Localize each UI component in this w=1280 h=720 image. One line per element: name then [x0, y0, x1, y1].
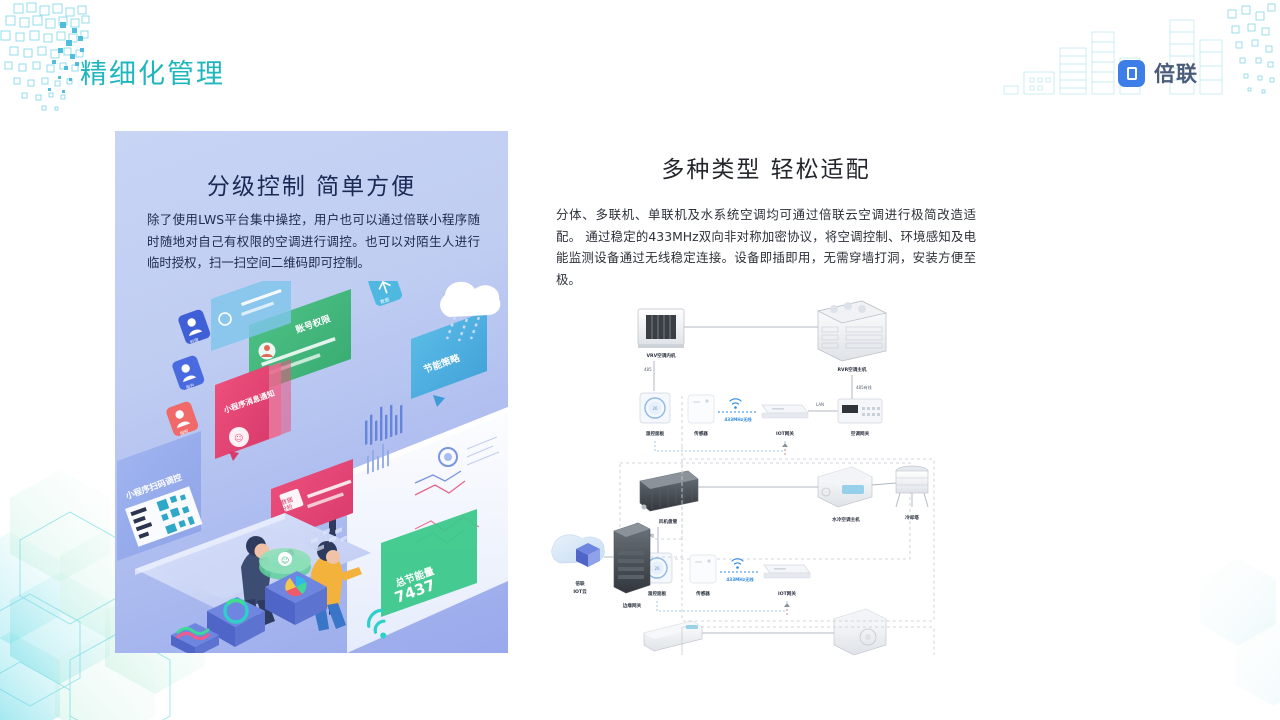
label-vrv-link-indoor: 485: [644, 367, 652, 372]
device-iot-cloud: [552, 535, 605, 567]
device-ac-gateway: [838, 399, 882, 423]
svg-text:26: 26: [654, 566, 660, 571]
label-vrv-outdoor: RVR空调主机: [837, 366, 866, 373]
card-miniprogram-notification: 小程序消息通知 ☺: [215, 359, 291, 461]
svg-text:☺: ☺: [281, 556, 289, 565]
brand-logo: 倍联: [1118, 58, 1198, 88]
square-logo-icon: [1118, 60, 1145, 87]
device-edge-gateway: [614, 523, 650, 593]
diagram-group-split-system: 分体空调内机 分体空调外机 铜 红外控制: [642, 609, 886, 655]
svg-text:☺: ☺: [234, 433, 243, 444]
hexagon-pattern-decoration-bottomright: [1020, 470, 1280, 720]
page-header: 精细化管理 倍联: [0, 0, 1280, 118]
diagram-group-vrv: VRV空调内机 RVR空调主机 485: [638, 301, 886, 457]
label-vrv-lan: LAN: [816, 402, 824, 407]
label-fan-coil: 风机盘管: [659, 518, 678, 525]
label-cloud-line2: IOT云: [573, 588, 587, 595]
device-vrv-sensor: [688, 395, 714, 423]
label-vrv-indoor: VRV空调内机: [646, 352, 675, 359]
device-water-cooled-host: [818, 467, 872, 507]
label-wireless-vrv: 433MHz无线: [724, 416, 752, 423]
left-feature-panel: 分级控制 简单方便 除了使用LWS平台集中操控，用户也可以通过倍联小程序随时随地…: [115, 131, 508, 653]
label-cloud-line1: 倍联: [574, 580, 585, 587]
wireless-link-vrv: 433MHz无线: [718, 399, 758, 423]
icon-card-data-cloud: 数据: [367, 281, 403, 307]
device-cooling-tower: [896, 466, 928, 507]
device-water-sensor: [690, 555, 716, 583]
label-water-device-0: 温控面板: [648, 590, 667, 597]
left-panel-body: 除了使用LWS平台集中操控，用户也可以通过倍联小程序随时随地对自己有权限的空调进…: [147, 209, 480, 274]
network-topology-diagram: VRV空调内机 RVR空调主机 485: [546, 295, 966, 655]
svg-text:26: 26: [652, 406, 658, 411]
right-panel-body: 分体、多联机、单联机及水系统空调均可通过倍联云空调进行极简改造适配。 通过稳定的…: [556, 204, 976, 290]
left-panel-title: 分级控制 简单方便: [115, 167, 508, 201]
device-split-indoor-unit: [644, 621, 702, 651]
wireless-link-water: 433MHz无线: [720, 559, 760, 583]
isometric-control-illustration: 账号权限 数据 分析 小程序消息通知 ☺ 小程序扫码调控: [115, 281, 508, 653]
device-water-iot-gateway: [764, 565, 810, 578]
label-vrv-device-2: IOT网关: [776, 430, 794, 437]
device-split-outdoor-unit: [834, 609, 886, 655]
label-vrv-link-outdoor: 485有线: [856, 384, 872, 390]
label-edge-gateway: 边缘网关: [622, 602, 642, 609]
label-water-device-1: 传感器: [695, 590, 710, 597]
device-vrv-indoor-unit: [638, 309, 684, 348]
label-wireless-water: 433MHz无线: [726, 576, 754, 583]
label-water-host: 水冷空调主机: [832, 516, 860, 523]
device-vrv-outdoor-host: [818, 301, 886, 361]
device-fan-coil-unit: [640, 471, 698, 511]
label-water-device-2: IOT网关: [778, 590, 796, 597]
diagram-group-water-system: 风机盘管 水冷空调主机 冷却塔: [620, 463, 928, 617]
card-qr-scan-control: 小程序扫码调控: [117, 431, 202, 561]
label-vrv-device-0: 温控面板: [646, 430, 665, 437]
icon-card-authorize: 授权: [165, 400, 200, 437]
device-vrv-iot-gateway: [762, 405, 808, 418]
page-title: 精细化管理: [80, 52, 225, 91]
brand-name: 倍联: [1154, 58, 1198, 88]
label-vrv-device-1: 传感器: [693, 430, 708, 437]
right-panel-title: 多种类型 轻松适配: [556, 150, 976, 184]
icon-card-permission: 权限: [177, 308, 212, 346]
icon-card-user: 用户: [171, 354, 206, 391]
device-vrv-thermostat-panel: 26: [640, 393, 670, 423]
label-ac-gateway: 空调网关: [851, 430, 870, 437]
label-cooling-tower: 冷却塔: [905, 514, 919, 521]
right-feature-panel: 多种类型 轻松适配 分体、多联机、单联机及水系统空调均可通过倍联云空调进行极简改…: [556, 150, 976, 660]
